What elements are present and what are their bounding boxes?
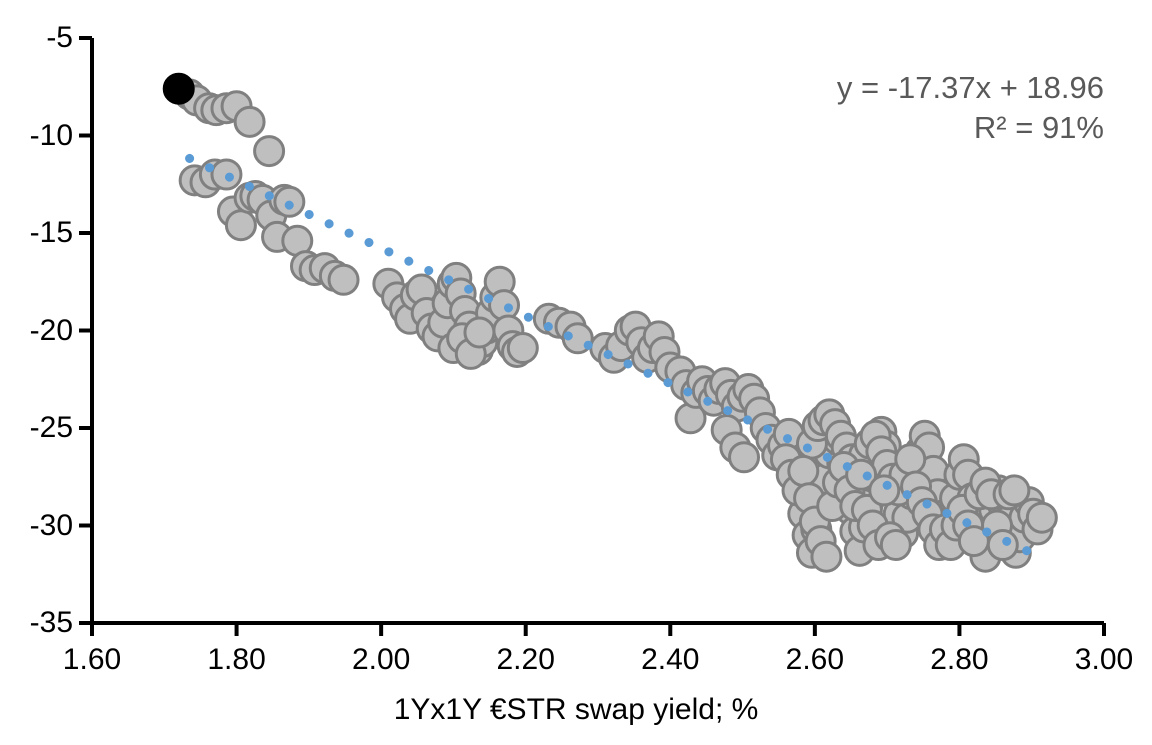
y-tick-label: -30: [11, 511, 73, 541]
scatter-points-layer: [175, 80, 1056, 571]
scatter-point: [255, 137, 284, 166]
x-tick-label: 2.40: [610, 645, 730, 675]
x-tick-label: 2.60: [755, 645, 875, 675]
scatter-point: [789, 456, 818, 485]
r-squared-text: R² = 91%: [837, 108, 1104, 148]
scatter-point: [1000, 476, 1029, 505]
x-tick-label: 1.80: [177, 645, 297, 675]
x-axis-title: 1Yx1Y €STR swap yield; %: [0, 695, 1152, 725]
scatter-point: [988, 531, 1017, 560]
x-tick-label: 2.00: [321, 645, 441, 675]
scatter-point: [329, 265, 358, 294]
y-tick-label: -5: [11, 23, 73, 53]
x-tick-label: 2.20: [466, 645, 586, 675]
highlight-point: [164, 74, 193, 103]
scatter-point: [226, 211, 255, 240]
scatter-point: [896, 445, 925, 474]
scatter-chart: -5-10-15-20-25-30-35 1.601.802.002.202.4…: [0, 0, 1152, 745]
y-tick-label: -15: [11, 218, 73, 248]
scatter-point: [465, 318, 494, 347]
y-tick-label: -10: [11, 121, 73, 151]
scatter-point: [1027, 503, 1056, 532]
equation-text: y = -17.37x + 18.96: [837, 68, 1104, 108]
trendline-equation-annotation: y = -17.37x + 18.96 R² = 91%: [837, 68, 1104, 147]
x-tick-label: 3.00: [1044, 645, 1152, 675]
x-tick-label: 1.60: [32, 645, 152, 675]
scatter-point: [235, 107, 264, 136]
scatter-point: [881, 531, 910, 560]
y-tick-label: -20: [11, 316, 73, 346]
x-tick-label: 2.80: [899, 645, 1019, 675]
scatter-point: [730, 443, 759, 472]
y-tick-label: -35: [11, 608, 73, 638]
highlighted-scatter-point: [164, 74, 193, 103]
scatter-point: [508, 334, 537, 363]
y-tick-label: -25: [11, 413, 73, 443]
scatter-point: [812, 542, 841, 571]
scatter-point: [870, 476, 899, 505]
